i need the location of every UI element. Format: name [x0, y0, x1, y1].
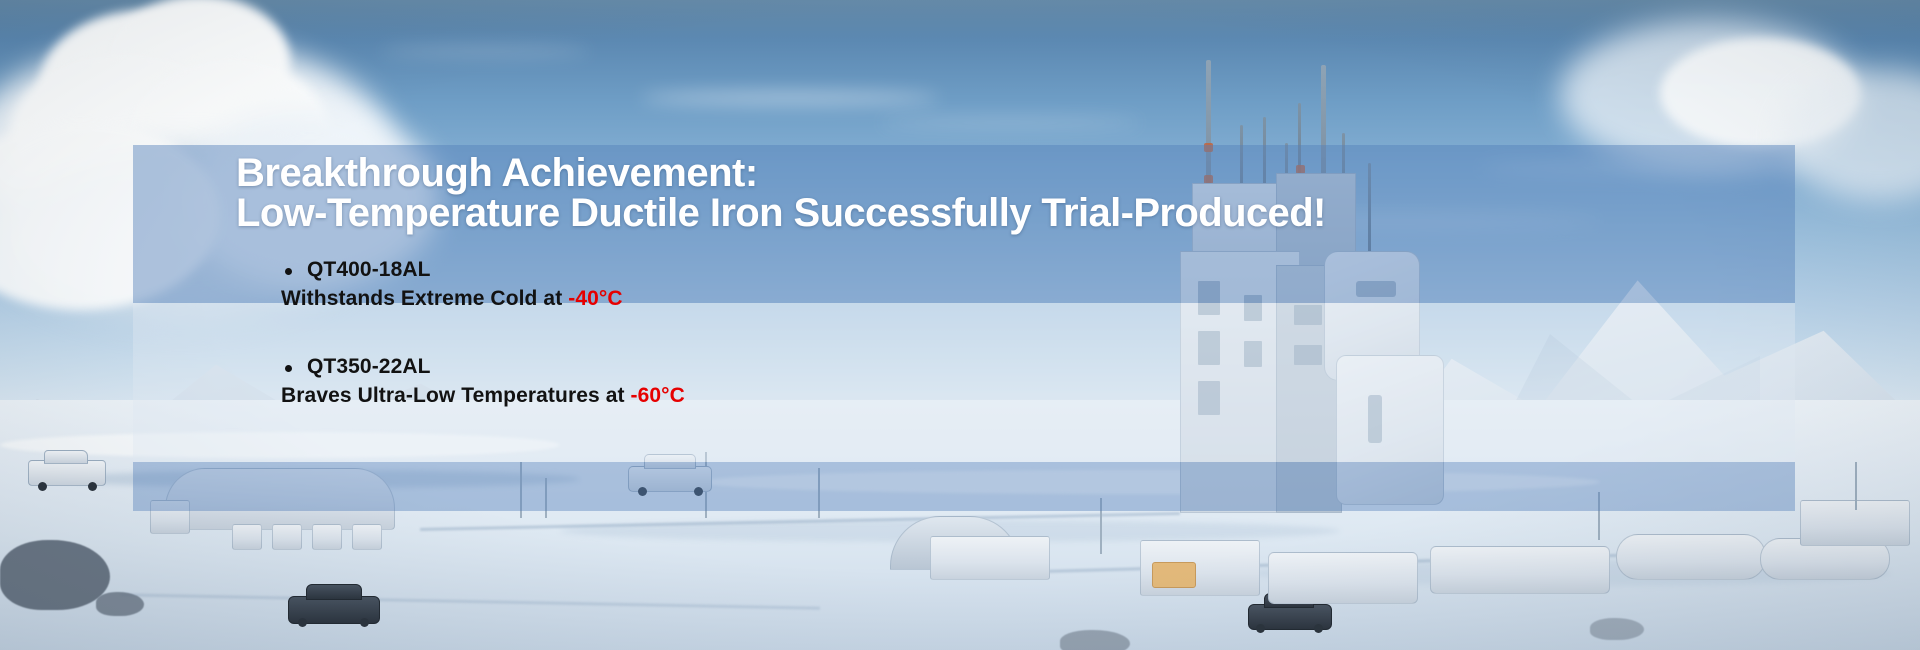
facility-block	[930, 536, 1050, 580]
feature-description: Braves Ultra-Low Temperatures at -60°C	[281, 382, 1481, 410]
feature-temperature: -60°C	[631, 384, 685, 407]
headline: Breakthrough Achievement: Low-Temperatur…	[236, 153, 1776, 233]
rock	[96, 592, 144, 616]
rock	[0, 540, 110, 610]
vehicle-wheel	[360, 618, 369, 627]
vehicle-wheel	[298, 618, 307, 627]
feature-description: Withstands Extreme Cold at -40°C	[281, 285, 1481, 313]
headline-line-2: Low-Temperature Ductile Iron Successfull…	[236, 193, 1776, 233]
bullet-dot-icon	[285, 268, 292, 275]
feature-item: QT350-22AL Braves Ultra-Low Temperatures…	[281, 354, 1481, 411]
facility-tank	[1616, 534, 1766, 580]
feature-description-text: Withstands Extreme Cold at	[281, 287, 568, 310]
station-support	[352, 524, 382, 550]
feature-list: QT400-18AL Withstands Extreme Cold at -4…	[281, 257, 1481, 410]
vehicle-wheel	[1314, 624, 1323, 633]
station-support	[312, 524, 342, 550]
facility-block	[1430, 546, 1610, 594]
car-roof	[306, 584, 362, 600]
station-support	[272, 524, 302, 550]
feature-description-text: Braves Ultra-Low Temperatures at	[281, 384, 631, 407]
cirrus-cloud	[380, 46, 590, 56]
vehicle-wheel	[1256, 624, 1265, 633]
feature-grade-row: QT400-18AL	[281, 257, 1481, 283]
promo-banner: Breakthrough Achievement: Low-Temperatur…	[0, 0, 1920, 650]
facility-block	[1268, 552, 1418, 604]
station-support	[232, 524, 262, 550]
headline-line-1: Breakthrough Achievement:	[236, 153, 1776, 193]
text-overlay-panel: Breakthrough Achievement: Low-Temperatur…	[133, 145, 1795, 511]
bullet-dot-icon	[285, 365, 292, 372]
overlay-band-bottom	[133, 462, 1795, 511]
utility-pole	[1855, 462, 1857, 510]
vehicle-wheel	[88, 482, 97, 491]
feature-grade-row: QT350-22AL	[281, 354, 1481, 380]
facility-block	[1152, 562, 1196, 588]
feature-item: QT400-18AL Withstands Extreme Cold at -4…	[281, 257, 1481, 314]
feature-temperature: -40°C	[568, 287, 622, 310]
feature-grade: QT400-18AL	[307, 258, 431, 281]
cirrus-cloud	[640, 92, 940, 104]
feature-grade: QT350-22AL	[307, 355, 431, 378]
vehicle-wheel	[38, 482, 47, 491]
rock	[1590, 618, 1644, 640]
snow-vehicle	[44, 450, 88, 464]
